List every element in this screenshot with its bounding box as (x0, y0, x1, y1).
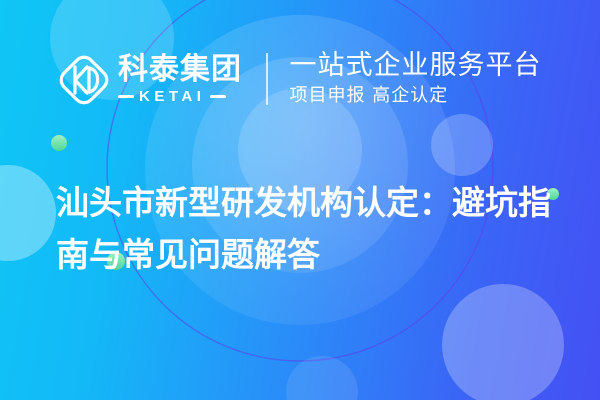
ketai-monogram-icon (56, 50, 112, 108)
promo-banner: 科泰集团 KETAI 一站式企业服务平台 项目申报 高企认定 汕头市新型研发机构… (0, 0, 600, 400)
logo-company-en: KETAI (139, 89, 205, 104)
logo-company-cn: 科泰集团 (118, 54, 242, 86)
soft-circle-bottom-right (442, 284, 564, 400)
soft-circle-bottom-center (286, 356, 358, 400)
banner-header: 科泰集团 KETAI 一站式企业服务平台 项目申报 高企认定 (56, 44, 542, 114)
logo-rule-right (210, 95, 226, 98)
header-divider (266, 53, 268, 105)
soft-circle-left (0, 165, 56, 261)
brand-logo[interactable]: 科泰集团 KETAI (56, 50, 242, 108)
tagline-sub: 项目申报 高企认定 (290, 84, 542, 108)
soft-circle-right-mid (431, 114, 493, 176)
logo-rule-left (118, 95, 134, 98)
logo-wordmark: 科泰集团 KETAI (118, 54, 242, 104)
banner-title: 汕头市新型研发机构认定：避坑指南与常见问题解答 (56, 177, 556, 281)
logo-en-row: KETAI (118, 89, 242, 104)
accent-dot-left (51, 135, 67, 151)
tagline-main: 一站式企业服务平台 (290, 50, 542, 81)
tagline-block: 一站式企业服务平台 项目申报 高企认定 (290, 50, 542, 108)
